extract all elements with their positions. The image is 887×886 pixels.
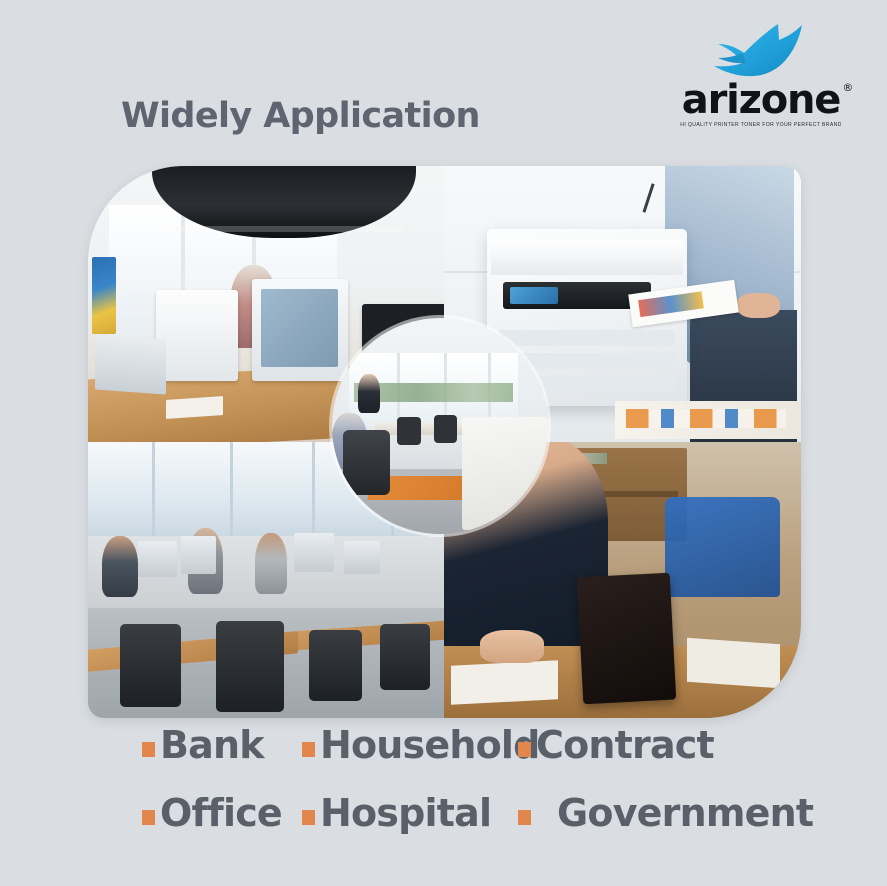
brand-logo: arizone® HI QUALITY PRINTER TONER FOR YO… [681, 22, 841, 134]
application-item-bank[interactable]: Bank [142, 726, 302, 764]
application-label: Bank [160, 726, 264, 764]
bullet-square-icon [142, 742, 155, 757]
inset-photo-meeting-room-with-office-printer [332, 318, 548, 534]
application-item-household[interactable]: Household [302, 726, 518, 764]
application-item-hospital[interactable]: Hospital [302, 794, 518, 832]
registered-mark: ® [842, 82, 852, 93]
bullet-square-icon [302, 742, 315, 757]
application-label: Contract [536, 726, 714, 764]
bullet-square-icon [142, 810, 155, 825]
arizone-bird-icon [696, 22, 826, 84]
brand-wordmark: arizone® [682, 80, 840, 120]
page-title: Widely Application [121, 96, 480, 136]
application-item-contract[interactable]: Contract [518, 726, 714, 764]
application-label: Government [557, 794, 813, 832]
brand-name: arizone [682, 77, 840, 123]
application-label: Hospital [320, 794, 491, 832]
bullet-square-icon [518, 742, 531, 757]
application-label: Office [160, 794, 282, 832]
bullet-square-icon [302, 810, 315, 825]
application-row-2: Office Hospital Government [0, 794, 887, 862]
application-row-1: Bank Household Contract [0, 726, 887, 794]
application-item-office[interactable]: Office [142, 794, 302, 832]
application-list: Bank Household Contract Office Hospital … [0, 726, 887, 862]
application-item-government[interactable]: Government [518, 794, 813, 832]
brand-tagline: HI QUALITY PRINTER TONER FOR YOUR PERFEC… [680, 122, 841, 128]
application-label: Household [320, 726, 540, 764]
application-photo-collage [88, 166, 801, 718]
bullet-square-icon [518, 810, 531, 825]
